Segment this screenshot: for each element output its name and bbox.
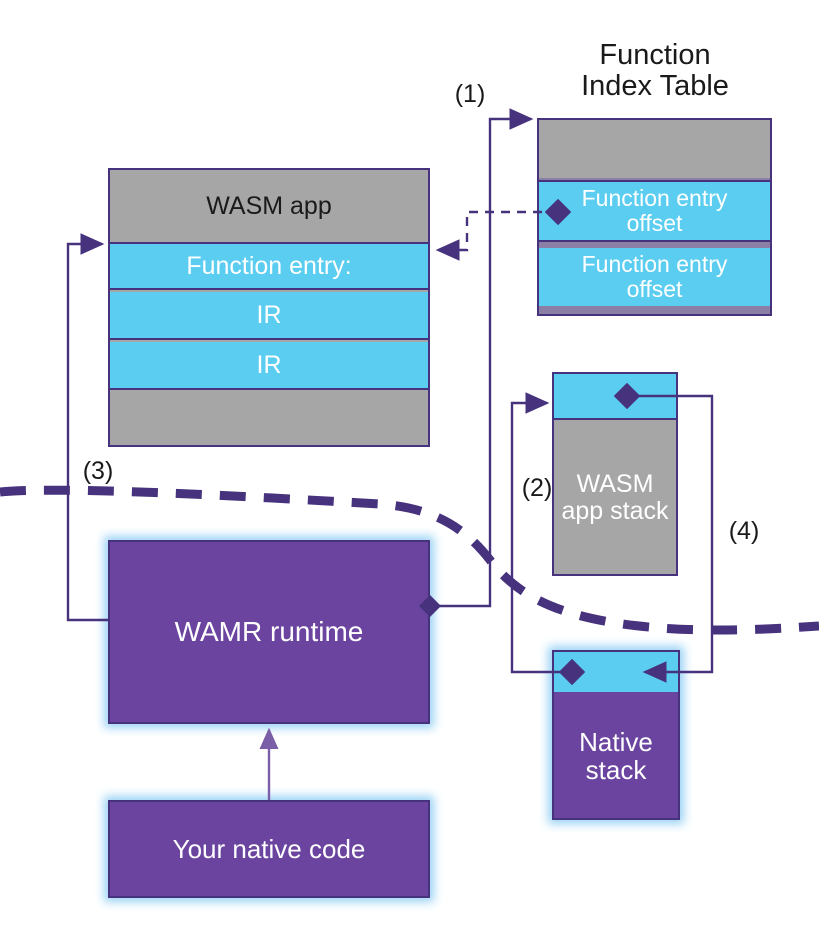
wasm-app-function-entry[interactable]: Function entry:	[110, 242, 428, 290]
native-stack-label: Native stack	[554, 694, 678, 818]
native-stack-label-line1: Native	[579, 728, 653, 756]
wasm-app-stack-block[interactable]: WASM app stack	[552, 372, 678, 576]
step-label-4: (4)	[718, 515, 770, 547]
function-index-table-row-1-line1: Function entry	[582, 252, 728, 277]
connector-step-1	[430, 119, 531, 606]
step-label-2-text: (2)	[522, 475, 553, 502]
wasm-app-header-label: WASM app	[206, 193, 332, 220]
wasm-app-stack-label-line2: app stack	[561, 498, 668, 525]
function-index-table-row-1[interactable]: Function entry offset	[539, 248, 770, 306]
connector-step-3	[68, 244, 108, 620]
wasm-app-row-empty	[110, 392, 428, 445]
wasm-app-function-entry-label: Function entry:	[186, 253, 351, 280]
function-index-table-row-0-line2: offset	[627, 211, 683, 236]
step-label-1-text: (1)	[455, 81, 486, 108]
step-label-3-text: (3)	[83, 458, 114, 485]
function-index-table-row-0[interactable]: Function entry offset	[539, 180, 770, 242]
function-index-table-title-line2: Index Table	[581, 71, 729, 102]
wasm-app-stack-label: WASM app stack	[554, 422, 676, 574]
your-native-code-label: Your native code	[173, 835, 366, 863]
wasm-app-stack-top-frame	[554, 374, 676, 420]
native-stack-label-line2: stack	[586, 756, 647, 784]
function-index-table-row-empty	[539, 120, 770, 178]
wasm-app-ir-row-1[interactable]: IR	[110, 342, 428, 390]
wasm-app-stack-label-line1: WASM	[577, 471, 654, 498]
step-label-2: (2)	[511, 472, 563, 504]
wasm-app-header: WASM app	[110, 170, 428, 242]
wasm-app-ir-row-0[interactable]: IR	[110, 292, 428, 340]
wasm-app-ir-row-0-label: IR	[257, 302, 282, 329]
native-stack-top-frame	[554, 652, 678, 692]
function-index-table-row-0-line1: Function entry	[582, 186, 728, 211]
function-index-table-title-line1: Function	[599, 40, 710, 71]
function-index-table-row-1-line2: offset	[627, 277, 683, 302]
function-index-table-title: Function Index Table	[540, 30, 770, 112]
diagram-canvas: Function Index Table Function entry offs…	[0, 0, 819, 925]
function-index-table[interactable]: Function entry offset Function entry off…	[537, 118, 772, 316]
step-label-3: (3)	[72, 455, 124, 487]
wamr-runtime-label: WAMR runtime	[175, 617, 364, 647]
wasm-app-ir-row-1-label: IR	[257, 352, 282, 379]
native-stack-block[interactable]: Native stack	[552, 650, 680, 820]
step-label-4-text: (4)	[729, 518, 760, 545]
wasm-app-block[interactable]: WASM app Function entry: IR IR	[108, 168, 430, 447]
your-native-code-block[interactable]: Your native code	[108, 800, 430, 898]
wamr-runtime-block[interactable]: WAMR runtime	[108, 540, 430, 724]
step-label-1: (1)	[444, 78, 496, 110]
